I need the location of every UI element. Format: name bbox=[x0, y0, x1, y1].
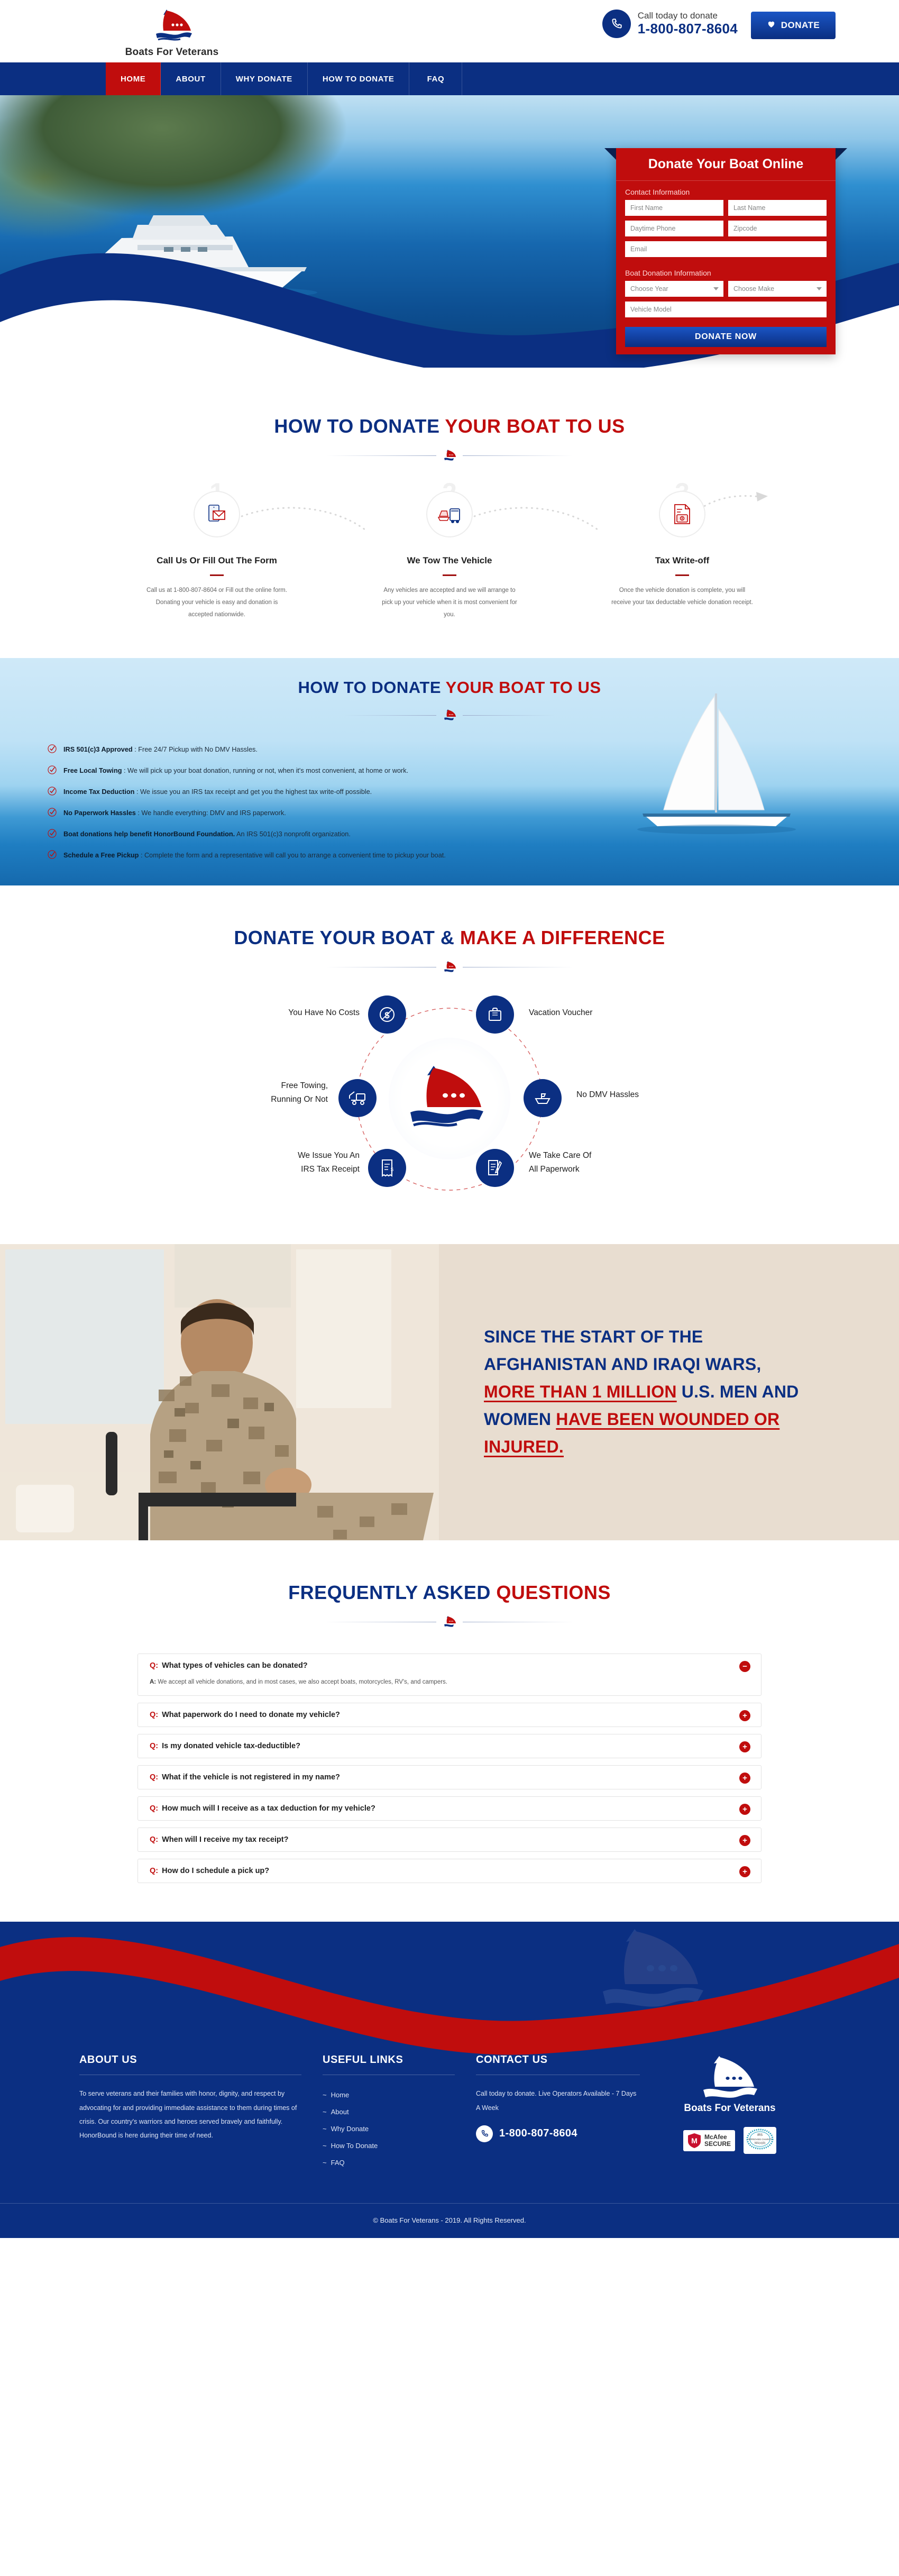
faq-item-4[interactable]: Q:What if the vehicle is not registered … bbox=[137, 1765, 762, 1789]
first-name-input[interactable] bbox=[625, 200, 723, 216]
footer-link-about[interactable]: ~About bbox=[323, 2104, 455, 2121]
top-header: Boats For Veterans Call today to donate … bbox=[0, 0, 899, 62]
donate-button-label: DONATE bbox=[781, 20, 820, 31]
benefit-bold: No Paperwork Hassles bbox=[63, 809, 136, 817]
boat-logo-icon bbox=[402, 1062, 497, 1136]
step-heading: Tax Write-off bbox=[603, 555, 762, 566]
form-title: Donate Your Boat Online bbox=[616, 148, 836, 181]
divider bbox=[0, 961, 899, 973]
step-text: Once the vehicle donation is complete, y… bbox=[603, 584, 762, 609]
faq-item-2[interactable]: Q:What paperwork do I need to donate my … bbox=[137, 1703, 762, 1727]
difference-diagram: $ You Have No Costs Vacation Voucher bbox=[159, 995, 740, 1202]
question-marker: Q: bbox=[150, 1711, 158, 1719]
benefit-bold: Free Local Towing bbox=[63, 767, 122, 774]
node-vacation-voucher bbox=[476, 995, 514, 1034]
faq-question-text: What paperwork do I need to donate my ve… bbox=[162, 1711, 340, 1719]
header-phone-number[interactable]: 1-800-807-8604 bbox=[638, 21, 738, 37]
question-marker: Q: bbox=[150, 1742, 158, 1750]
501c3-text: 501(c)(3) bbox=[755, 2142, 766, 2145]
question-marker: Q: bbox=[150, 1661, 158, 1670]
faq-title: FREQUENTLY ASKED QUESTIONS bbox=[0, 1582, 899, 1604]
question-marker: Q: bbox=[150, 1835, 158, 1844]
contact-text: Call today to donate. Live Operators Ava… bbox=[476, 2087, 640, 2115]
benefit-bold: IRS 501(c)3 Approved bbox=[63, 746, 133, 753]
step-icon-circle: 1 bbox=[194, 491, 240, 537]
choose-year-value[interactable] bbox=[625, 281, 723, 297]
shield-icon: M bbox=[687, 2133, 701, 2149]
node-label-all-paperwork: We Take Care Of All Paperwork bbox=[529, 1149, 666, 1177]
divider bbox=[0, 449, 899, 462]
faq-question[interactable]: Q:When will I receive my tax receipt? bbox=[138, 1828, 761, 1851]
benefit-item: Income Tax Deduction : We issue you an I… bbox=[48, 786, 465, 798]
faq-item-7[interactable]: Q:How do I schedule a pick up? + bbox=[137, 1859, 762, 1883]
trust-badges: M McAfee SECURE IRS APPROVED CHARITY 501… bbox=[661, 2127, 799, 2154]
benefits-list: IRS 501(c)3 Approved : Free 24/7 Pickup … bbox=[48, 744, 465, 862]
boat-divider-icon bbox=[443, 961, 456, 973]
footer-link-why-donate[interactable]: ~Why Donate bbox=[323, 2121, 455, 2137]
secure-label: SECURE bbox=[704, 2141, 731, 2148]
email-input[interactable] bbox=[625, 241, 827, 257]
node-label-you-have-no-costs: You Have No Costs bbox=[238, 1006, 360, 1020]
svg-text:M: M bbox=[691, 2136, 698, 2145]
check-icon bbox=[48, 850, 57, 862]
svg-text:$: $ bbox=[384, 1010, 390, 1020]
step-underline bbox=[675, 574, 689, 576]
benefit-text: : We issue you an IRS tax receipt and ge… bbox=[134, 788, 372, 796]
quote-highlight: MORE THAN 1 MILLION bbox=[484, 1382, 677, 1401]
benefits-section: HOW TO DONATE YOUR BOAT TO US IRS 501(c)… bbox=[0, 658, 899, 885]
node-all-paperwork bbox=[476, 1149, 514, 1187]
copyright: © Boats For Veterans - 2019. All Rights … bbox=[0, 2203, 899, 2238]
faq-toggle-minus-icon[interactable]: − bbox=[739, 1661, 750, 1672]
links-heading: USEFUL LINKS bbox=[323, 2054, 455, 2066]
about-text: To serve veterans and their families wit… bbox=[79, 2087, 301, 2142]
footer-link-home[interactable]: ~Home bbox=[323, 2087, 455, 2104]
footer-link-faq[interactable]: ~FAQ bbox=[323, 2154, 455, 2171]
mcafee-secure-badge: M McAfee SECURE bbox=[683, 2130, 735, 2151]
check-icon bbox=[48, 829, 57, 841]
heart-icon bbox=[767, 20, 776, 31]
difference-heading: DONATE YOUR BOAT & MAKE A DIFFERENCE bbox=[0, 927, 899, 973]
nav-item-faq[interactable]: FAQ bbox=[409, 62, 462, 95]
difference-title: DONATE YOUR BOAT & MAKE A DIFFERENCE bbox=[0, 927, 899, 949]
step-text: Call us at 1-800-807-8604 or Fill out th… bbox=[137, 584, 296, 621]
step-3: 3 Tax Write-off Once the vehicle donatio… bbox=[603, 491, 762, 621]
boat-logo-icon bbox=[145, 7, 198, 44]
phone-icon bbox=[602, 10, 631, 38]
question-marker: Q: bbox=[150, 1773, 158, 1782]
benefit-item: Boat donations help benefit HonorBound F… bbox=[48, 828, 465, 841]
irs-approved-charity-badge: IRS APPROVED CHARITY 501(c)(3) bbox=[744, 2127, 776, 2154]
faq-question[interactable]: Q:What types of vehicles can be donated? bbox=[138, 1654, 761, 1677]
donate-button[interactable]: DONATE bbox=[751, 12, 836, 39]
footer-contact: CONTACT US Call today to donate. Live Op… bbox=[476, 2054, 661, 2171]
benefit-bold: Boat donations help benefit HonorBound F… bbox=[63, 830, 235, 838]
faq-question[interactable]: Q:Is my donated vehicle tax-deductible? bbox=[138, 1734, 761, 1758]
faq-question[interactable]: Q:How much will I receive as a tax deduc… bbox=[138, 1797, 761, 1820]
irs-text: IRS bbox=[757, 2134, 763, 2137]
receipt-icon: $ bbox=[380, 1158, 395, 1177]
footer-logo-text: Boats For Veterans bbox=[661, 2103, 799, 2114]
faq-heading: FREQUENTLY ASKED QUESTIONS bbox=[0, 1582, 899, 1628]
benefit-bold: Schedule a Free Pickup bbox=[63, 852, 139, 859]
footer-columns: ABOUT US To serve veterans and their fam… bbox=[79, 2054, 820, 2203]
node-you-have-no-costs: $ bbox=[368, 995, 406, 1034]
benefit-text: An IRS 501(c)3 nonprofit organization. bbox=[235, 830, 351, 838]
nav-item-why-donate[interactable]: WHY DONATE bbox=[221, 62, 308, 95]
center-boat-logo bbox=[389, 1038, 510, 1159]
faq-item-3[interactable]: Q:Is my donated vehicle tax-deductible? … bbox=[137, 1734, 762, 1758]
node-label-irs-tax-receipt: We Issue You An IRS Tax Receipt bbox=[227, 1149, 360, 1177]
veteran-statistic-section: SINCE THE START OF THE AFGHANISTAN AND I… bbox=[0, 1244, 899, 1540]
footer-brand: Boats For Veterans M McAfee SECURE bbox=[661, 2054, 820, 2171]
footer-about: ABOUT US To serve veterans and their fam… bbox=[79, 2054, 323, 2171]
steps-title: HOW TO DONATE YOUR BOAT TO US bbox=[0, 415, 899, 437]
document-pen-icon bbox=[487, 1159, 503, 1177]
benefit-text: : We will pick up your boat donation, ru… bbox=[122, 767, 408, 774]
site-logo[interactable]: Boats For Veterans bbox=[108, 7, 235, 58]
boat-icon bbox=[533, 1090, 552, 1106]
phone-icon bbox=[476, 2125, 493, 2142]
check-icon bbox=[48, 765, 57, 777]
check-icon bbox=[48, 787, 57, 798]
approved-charity-text: APPROVED CHARITY bbox=[748, 2138, 773, 2141]
boat-divider-icon bbox=[443, 1615, 456, 1628]
envelope-form-icon bbox=[206, 503, 228, 525]
divider bbox=[79, 2075, 301, 2075]
contact-heading: CONTACT US bbox=[476, 2054, 640, 2066]
benefit-text: : Complete the form and a representative… bbox=[139, 852, 445, 859]
faq-question-text: What if the vehicle is not registered in… bbox=[162, 1773, 340, 1782]
dollar-circle-icon: $ bbox=[378, 1006, 396, 1024]
make-a-difference-section: DONATE YOUR BOAT & MAKE A DIFFERENCE bbox=[0, 885, 899, 1244]
site-footer: ABOUT US To serve veterans and their fam… bbox=[0, 1922, 899, 2237]
question-marker: Q: bbox=[150, 1867, 158, 1875]
boat-section-label: Boat Donation Information bbox=[616, 262, 836, 281]
hero-section: DONATE YOUR BOAT TO VETERANS MAKE A DIFF… bbox=[0, 95, 899, 368]
boat-divider-icon bbox=[443, 709, 456, 721]
node-no-dmv-hassles bbox=[524, 1079, 562, 1117]
faq-list: Q:What types of vehicles can be donated?… bbox=[137, 1654, 762, 1883]
answer-marker: A: bbox=[150, 1679, 156, 1685]
mcafee-label: McAfee bbox=[704, 2134, 731, 2141]
footer-link-how-to-donate[interactable]: ~How To Donate bbox=[323, 2137, 455, 2154]
faq-item-1[interactable]: Q:What types of vehicles can be donated?… bbox=[137, 1654, 762, 1696]
faq-question-text: Is my donated vehicle tax-deductible? bbox=[162, 1742, 300, 1750]
footer-phone[interactable]: 1-800-807-8604 bbox=[476, 2125, 640, 2142]
node-irs-tax-receipt: $ bbox=[368, 1149, 406, 1187]
footer-links: USEFUL LINKS ~Home ~About ~Why Donate ~H… bbox=[323, 2054, 476, 2171]
faq-question-text: When will I receive my tax receipt? bbox=[162, 1835, 288, 1844]
sailboat-photo bbox=[611, 691, 838, 849]
steps-heading: HOW TO DONATE YOUR BOAT TO US bbox=[0, 415, 899, 462]
zipcode-input[interactable] bbox=[728, 221, 827, 236]
choose-year-select[interactable] bbox=[625, 281, 723, 297]
question-marker: Q: bbox=[150, 1804, 158, 1813]
check-icon bbox=[48, 744, 57, 756]
step-icon-circle: 2 bbox=[426, 491, 473, 537]
benefit-text: : We handle everything: DMV and IRS pape… bbox=[136, 809, 286, 817]
call-label: Call today to donate bbox=[638, 11, 738, 21]
check-icon bbox=[48, 808, 57, 819]
benefit-item: IRS 501(c)3 Approved : Free 24/7 Pickup … bbox=[48, 744, 465, 756]
benefit-item: Schedule a Free Pickup : Complete the fo… bbox=[48, 849, 465, 862]
about-heading: ABOUT US bbox=[79, 2054, 301, 2066]
daytime-phone-input[interactable] bbox=[625, 221, 723, 236]
node-label-no-dmv-hassles: No DMV Hassles bbox=[576, 1088, 714, 1102]
svg-text:$: $ bbox=[391, 1167, 393, 1172]
tax-receipt-icon bbox=[672, 503, 693, 525]
vehicle-model-input[interactable] bbox=[625, 302, 827, 317]
benefit-bold: Income Tax Deduction bbox=[63, 788, 134, 796]
call-block[interactable]: Call today to donate 1-800-807-8604 bbox=[602, 10, 738, 38]
choose-make-value[interactable] bbox=[728, 281, 827, 297]
choose-make-select[interactable] bbox=[728, 281, 827, 297]
faq-question[interactable]: Q:What paperwork do I need to donate my … bbox=[138, 1703, 761, 1727]
boat-divider-icon bbox=[443, 449, 456, 462]
footer-phone-number[interactable]: 1-800-807-8604 bbox=[499, 2127, 577, 2140]
last-name-input[interactable] bbox=[728, 200, 827, 216]
step-underline bbox=[443, 574, 456, 576]
node-label-vacation-voucher: Vacation Voucher bbox=[529, 1006, 666, 1020]
faq-answer: A: We accept all vehicle donations, and … bbox=[138, 1677, 761, 1695]
faq-item-5[interactable]: Q:How much will I receive as a tax deduc… bbox=[137, 1796, 762, 1821]
divider bbox=[323, 2075, 455, 2075]
donate-now-button[interactable]: DONATE NOW bbox=[625, 327, 827, 347]
faq-question[interactable]: Q:What if the vehicle is not registered … bbox=[138, 1766, 761, 1789]
donation-form: Donate Your Boat Online Contact Informat… bbox=[616, 148, 836, 354]
step-underline bbox=[210, 574, 224, 576]
faq-question-text: How do I schedule a pick up? bbox=[162, 1867, 269, 1875]
step-2: 2 We Tow The Vehicle Any vehicles are ac… bbox=[370, 491, 529, 621]
quote-part: SINCE THE START OF THE AFGHANISTAN AND I… bbox=[484, 1327, 762, 1374]
veteran-photo bbox=[0, 1244, 439, 1540]
seal-icon: IRS APPROVED CHARITY 501(c)(3) bbox=[746, 2129, 774, 2150]
faq-question-text: How much will I receive as a tax deducti… bbox=[162, 1804, 375, 1813]
logo-text: Boats For Veterans bbox=[108, 47, 235, 58]
node-label-free-towing: Free Towing, Running Or Not bbox=[212, 1079, 328, 1107]
benefit-item: No Paperwork Hassles : We handle everyth… bbox=[48, 807, 465, 819]
step-text: Any vehicles are accepted and we will ar… bbox=[370, 584, 529, 621]
node-free-towing bbox=[338, 1079, 377, 1117]
how-to-donate-steps-section: HOW TO DONATE YOUR BOAT TO US 1 bbox=[0, 368, 899, 658]
step-heading: We Tow The Vehicle bbox=[370, 555, 529, 566]
benefit-text: : Free 24/7 Pickup with No DMV Hassles. bbox=[133, 746, 258, 753]
faq-answer-text: We accept all vehicle donations, and in … bbox=[158, 1679, 447, 1685]
steps-list: 1 Call Us Or Fill Out The Form Call us a… bbox=[0, 491, 899, 621]
footer-boat-logo-icon bbox=[698, 2054, 762, 2099]
divider bbox=[476, 2075, 640, 2075]
faq-question[interactable]: Q:How do I schedule a pick up? bbox=[138, 1859, 761, 1883]
suitcase-icon bbox=[487, 1006, 503, 1023]
step-heading: Call Us Or Fill Out The Form bbox=[137, 555, 296, 566]
footer-wave-shape bbox=[0, 1922, 899, 2065]
tow-boat-icon bbox=[437, 504, 462, 525]
veteran-quote: SINCE THE START OF THE AFGHANISTAN AND I… bbox=[484, 1323, 806, 1460]
faq-item-6[interactable]: Q:When will I receive my tax receipt? + bbox=[137, 1828, 762, 1852]
step-1: 1 Call Us Or Fill Out The Form Call us a… bbox=[137, 491, 296, 621]
step-icon-circle: 3 bbox=[659, 491, 705, 537]
faq-question-text: What types of vehicles can be donated? bbox=[162, 1661, 308, 1670]
nav-item-home[interactable]: HOME bbox=[106, 62, 161, 95]
benefit-item: Free Local Towing : We will pick up your… bbox=[48, 765, 465, 777]
veteran-quote-panel: SINCE THE START OF THE AFGHANISTAN AND I… bbox=[439, 1244, 899, 1540]
divider bbox=[0, 1615, 899, 1628]
main-navigation: HOME ABOUT WHY DONATE HOW TO DONATE FAQ bbox=[0, 62, 899, 95]
nav-item-how-to-donate[interactable]: HOW TO DONATE bbox=[308, 62, 410, 95]
contact-section-label: Contact Information bbox=[616, 181, 836, 200]
tow-truck-icon bbox=[348, 1090, 367, 1106]
nav-item-about[interactable]: ABOUT bbox=[161, 62, 221, 95]
faq-section: FREQUENTLY ASKED QUESTIONS Q:What types … bbox=[0, 1540, 899, 1922]
